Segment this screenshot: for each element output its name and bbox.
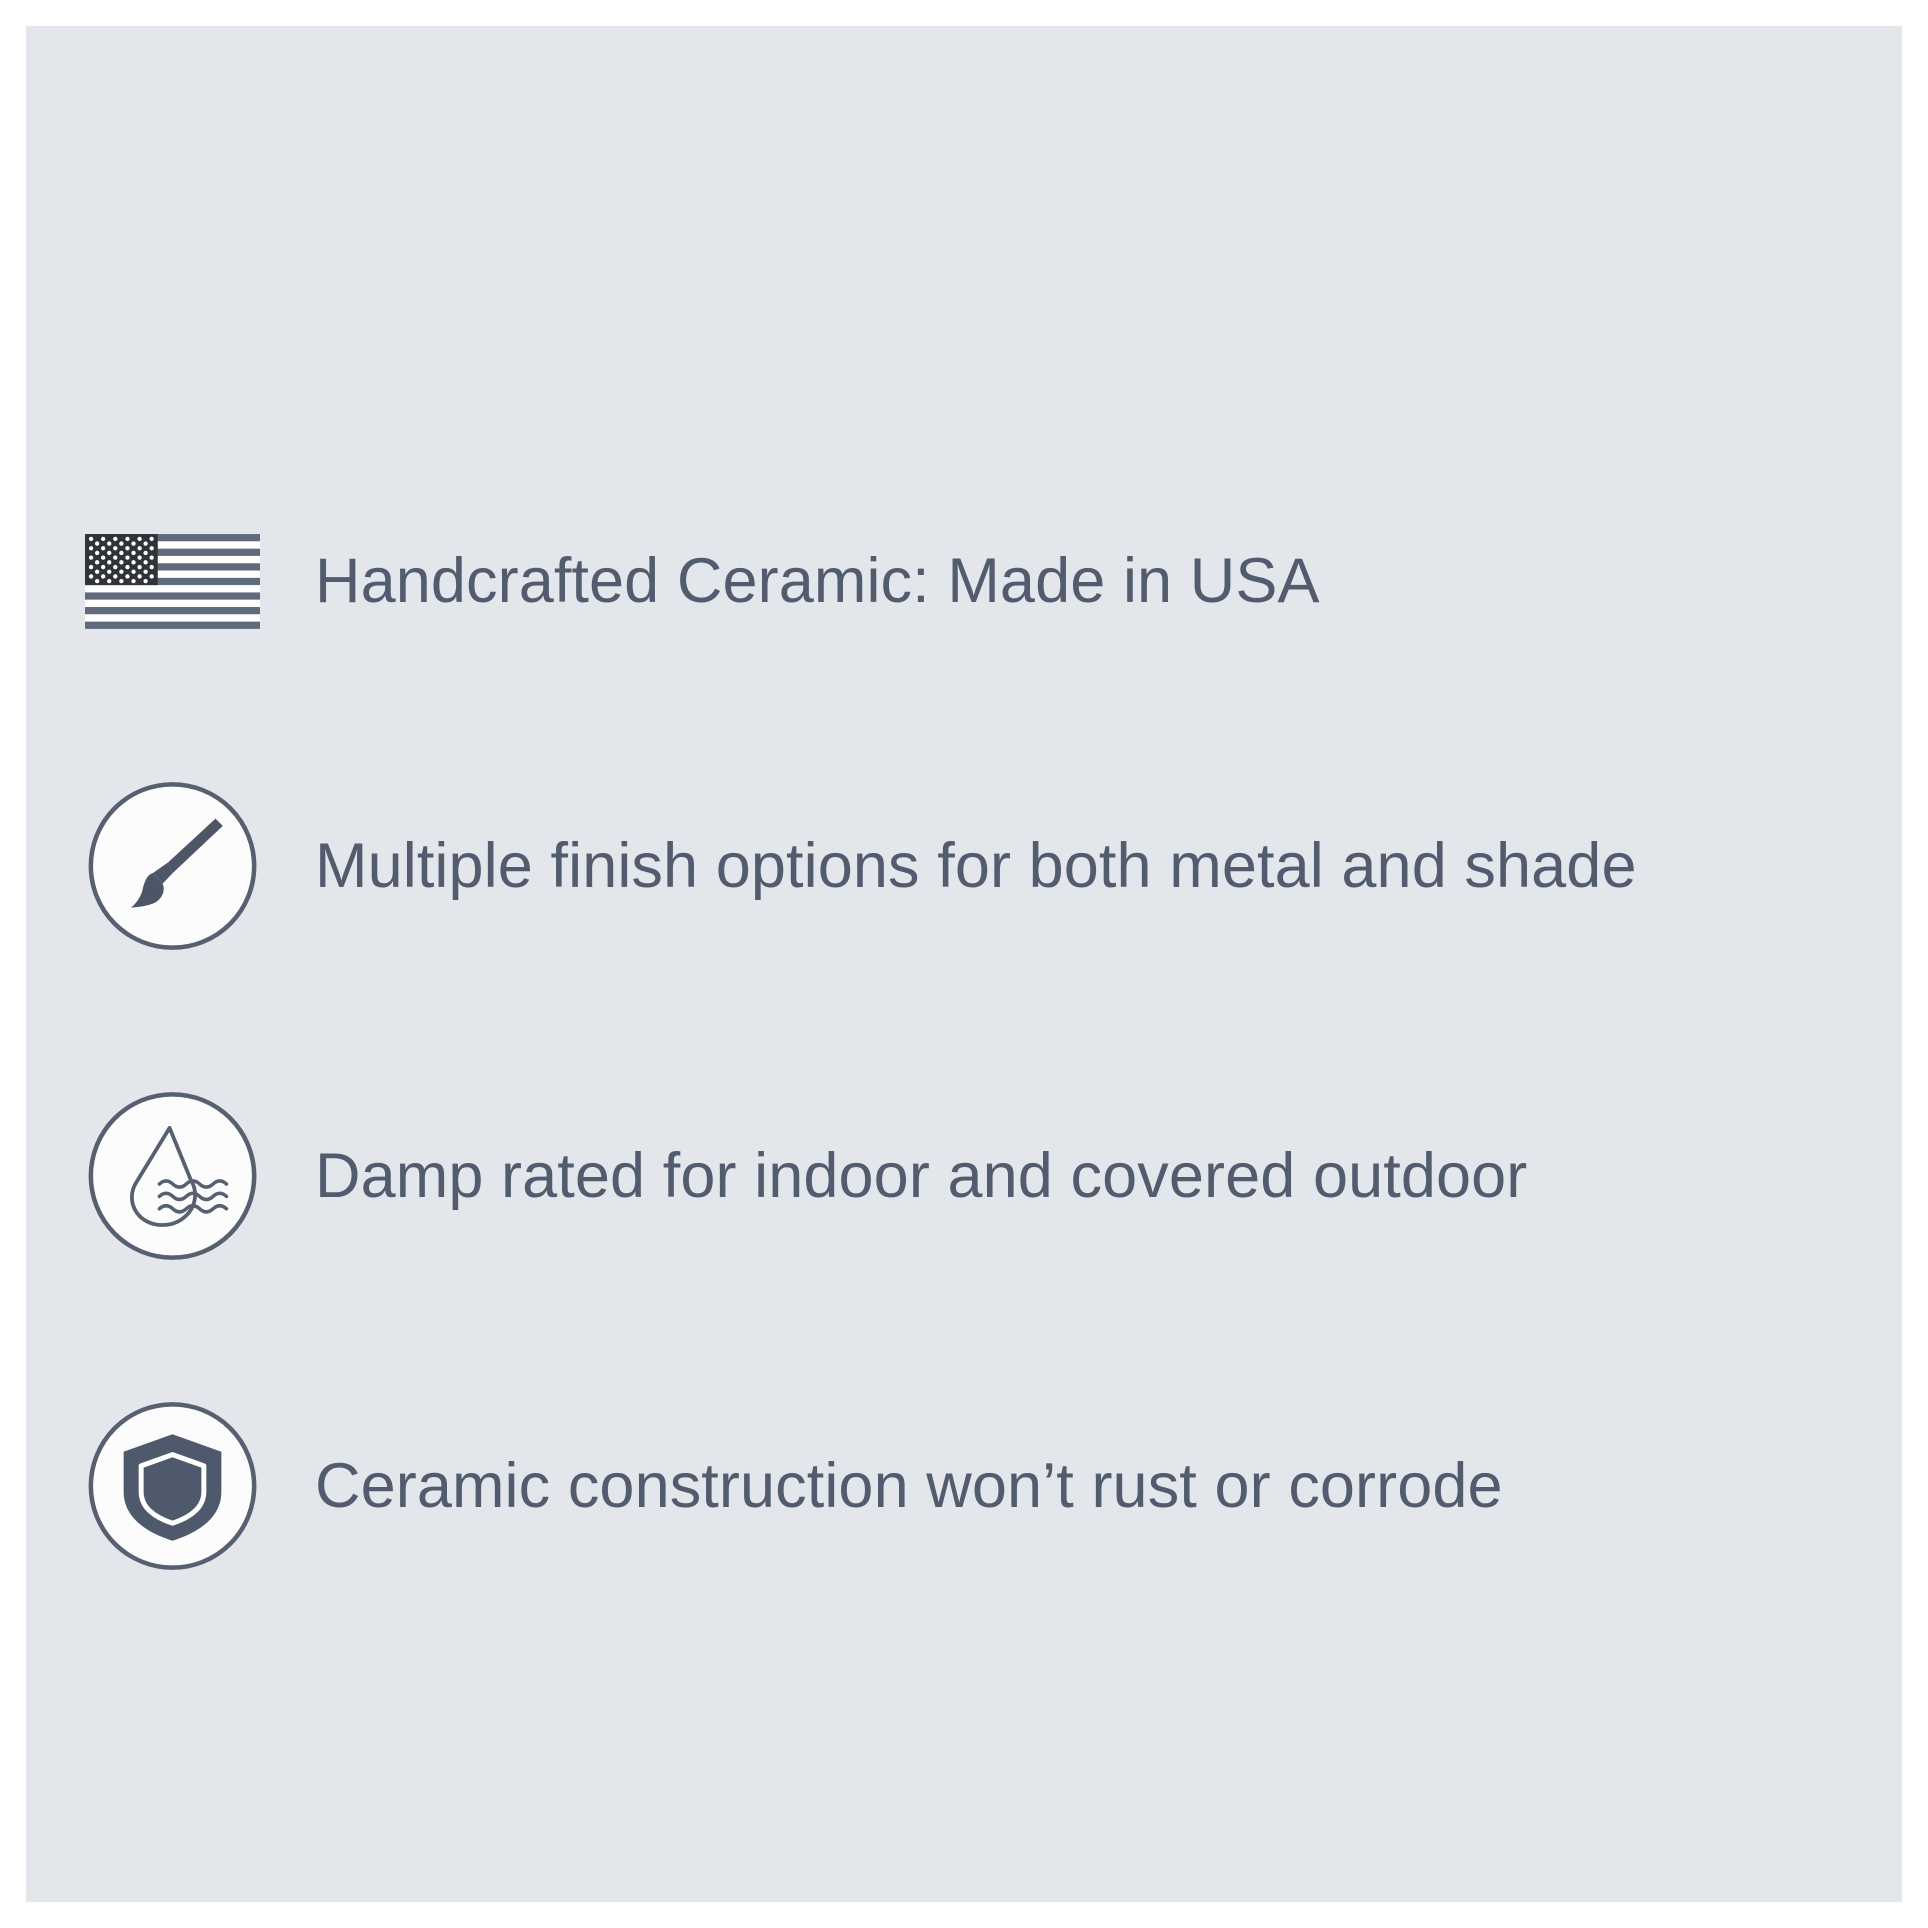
paintbrush-icon	[85, 778, 260, 954]
feature-list: Handcrafted Ceramic: Made in USA Multipl…	[26, 26, 1902, 1902]
feature-icon-slot	[85, 1396, 260, 1576]
feature-label: Handcrafted Ceramic: Made in USA	[260, 544, 1875, 618]
usa-flag-icon	[85, 534, 260, 629]
shield-icon	[85, 1398, 260, 1574]
feature-panel: Handcrafted Ceramic: Made in USA Multipl…	[26, 26, 1902, 1902]
feature-icon-slot	[85, 1086, 260, 1266]
feature-label: Ceramic construction won’t rust or corro…	[260, 1449, 1875, 1523]
water-droplet-icon	[85, 1088, 260, 1264]
feature-icon-slot	[85, 776, 260, 956]
feature-row: Ceramic construction won’t rust or corro…	[85, 1381, 1875, 1591]
feature-row: Handcrafted Ceramic: Made in USA	[85, 476, 1875, 686]
feature-label: Damp rated for indoor and covered outdoo…	[260, 1139, 1875, 1213]
feature-row: Damp rated for indoor and covered outdoo…	[85, 1071, 1875, 1281]
feature-label: Multiple finish options for both metal a…	[260, 829, 1875, 903]
feature-row: Multiple finish options for both metal a…	[85, 761, 1875, 971]
feature-icon-slot	[85, 491, 260, 671]
